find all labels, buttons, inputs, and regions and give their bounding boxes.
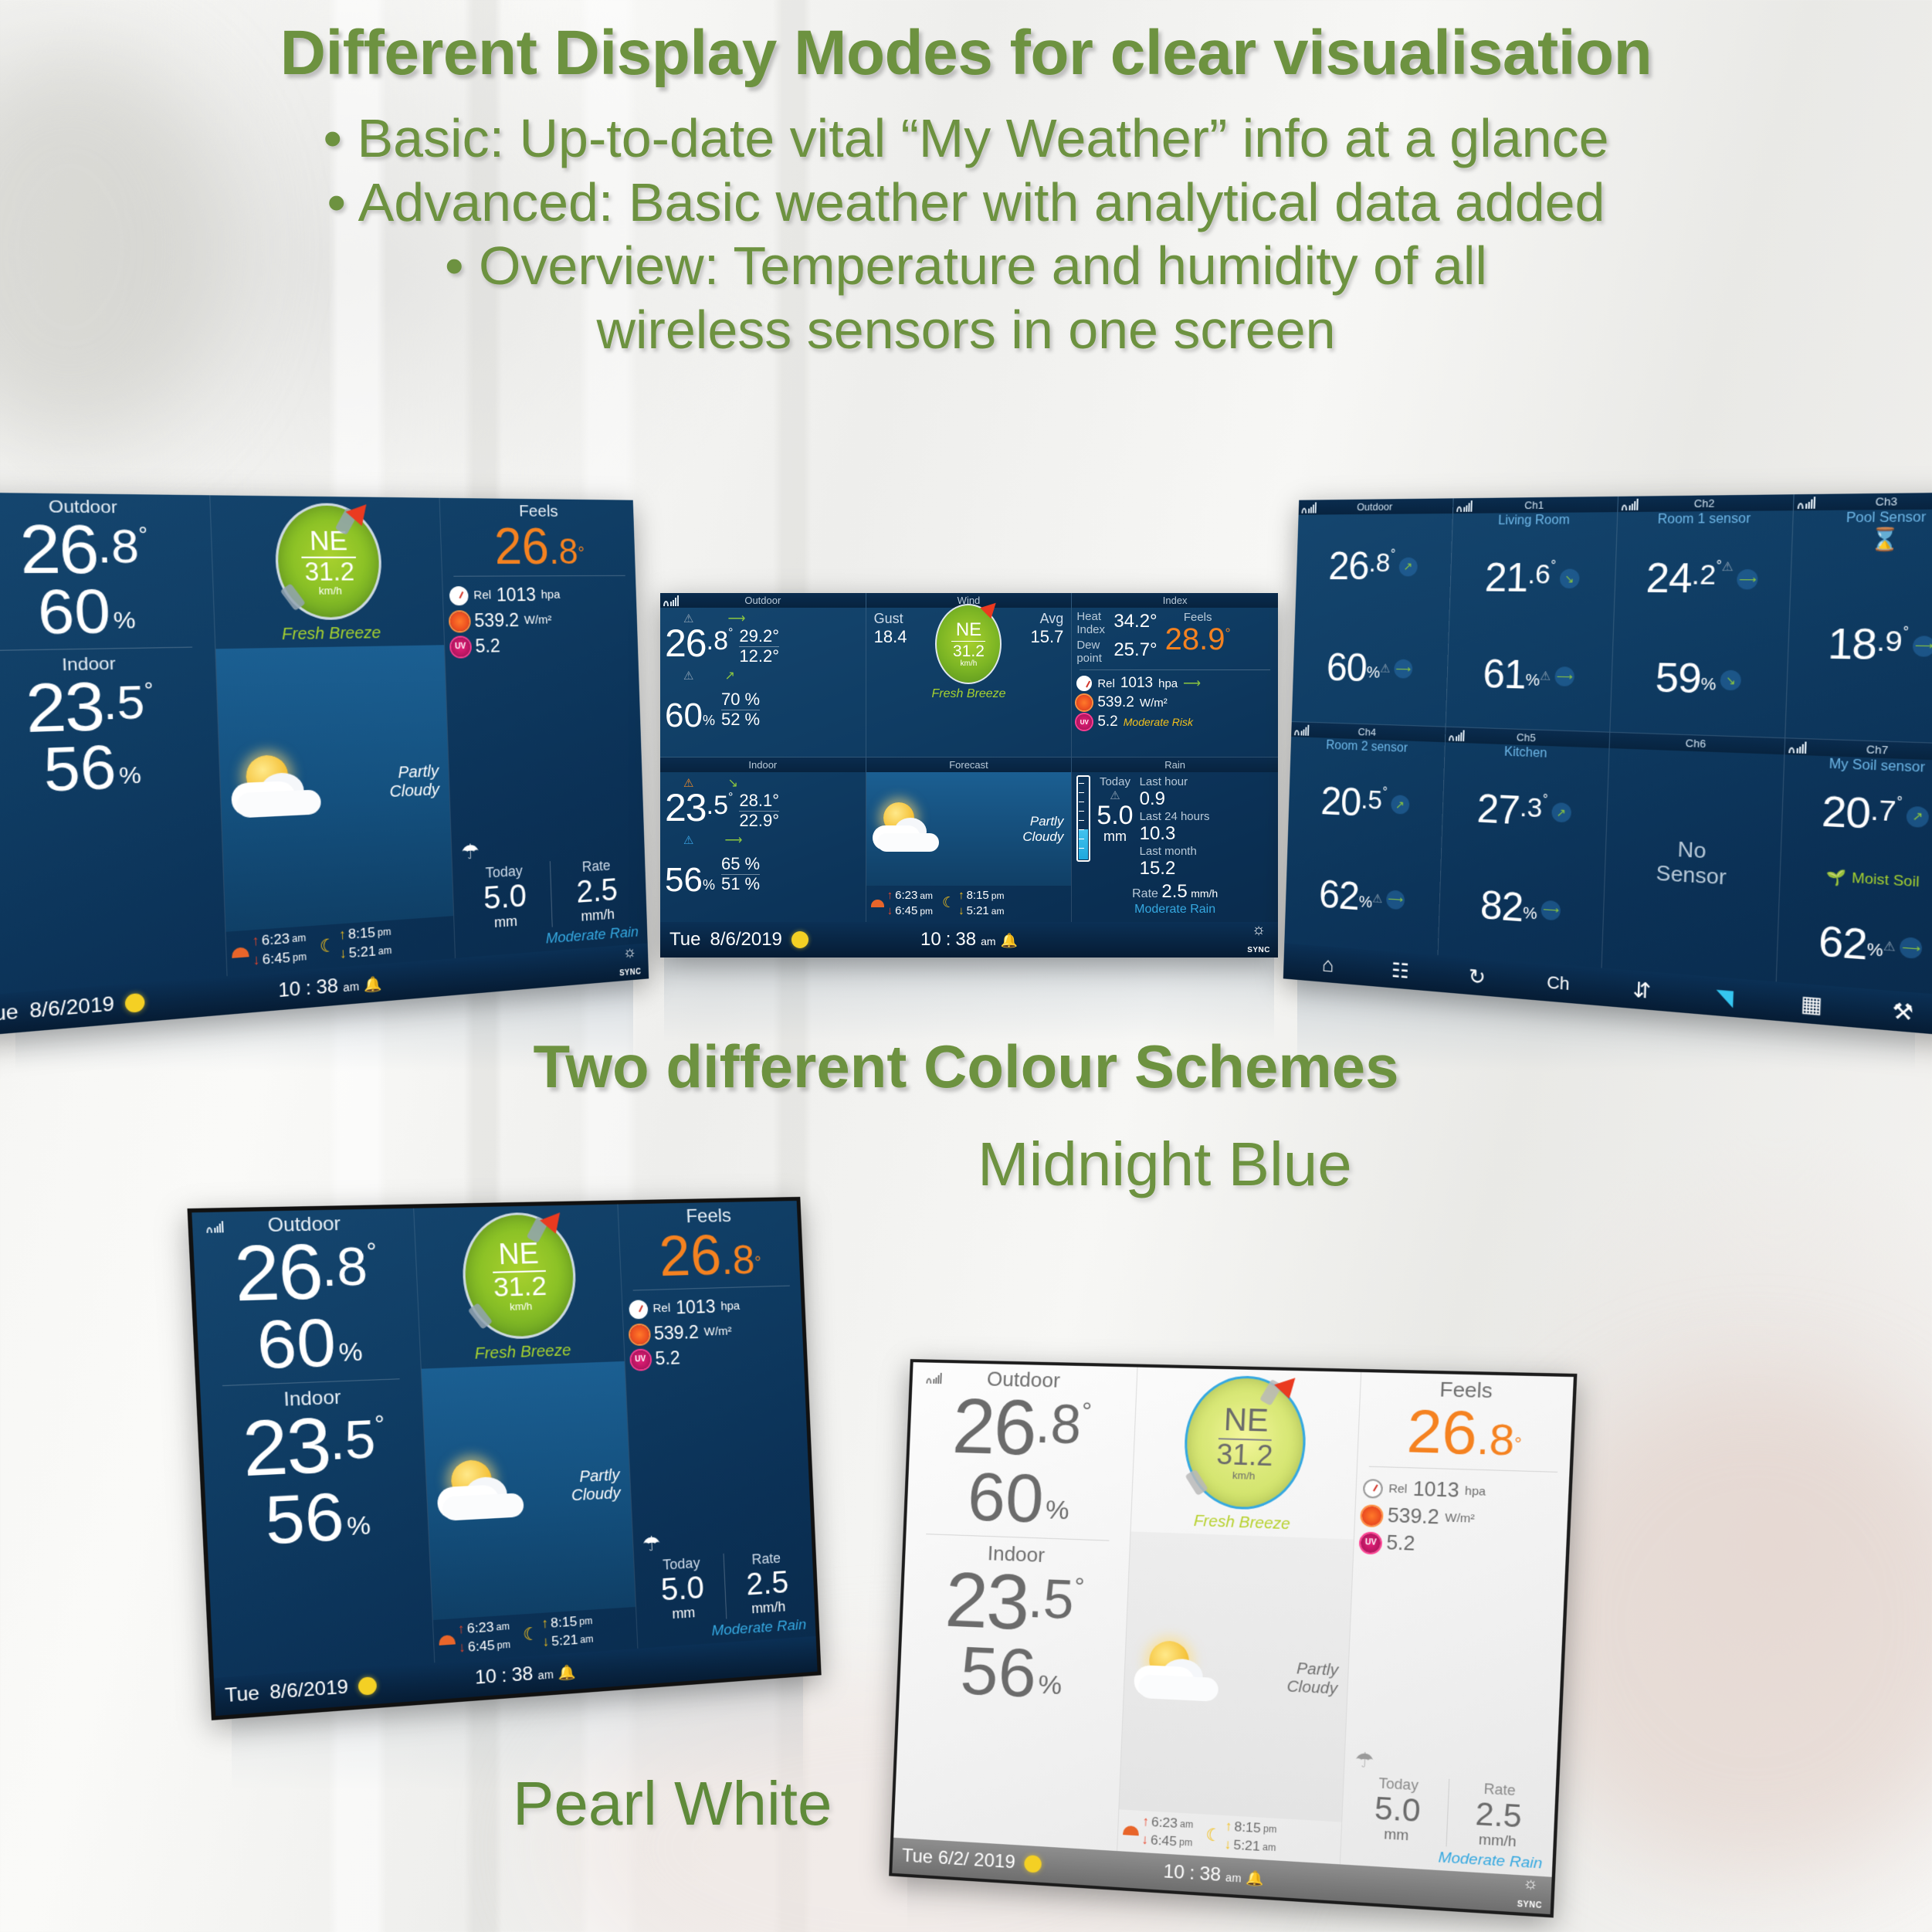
- cell-title: Ch2: [1694, 497, 1715, 510]
- partly-cloudy-icon: [1130, 1638, 1228, 1708]
- overview-cell-ch1[interactable]: Ch1 Living Room 21 .6 ° ↘ 61 % ⚠ ⟶: [1446, 497, 1618, 733]
- outdoor-hum-max: 70 %: [721, 690, 760, 710]
- indoor-hum-unit: %: [346, 1510, 371, 1542]
- reflection-advanced: [664, 958, 1274, 1042]
- overview-cell-ch4[interactable]: Ch4 Room 2 sensor 20 .5 ° ↗ 62 % ⚠ ⟶: [1284, 722, 1446, 955]
- wind-description: Fresh Breeze: [474, 1342, 571, 1364]
- cell-forecast[interactable]: Forecast PartlyCloudy: [866, 758, 1073, 922]
- alert-triangle-icon: ⚠: [683, 669, 693, 683]
- outdoor-humidity: 60 %: [196, 1306, 420, 1381]
- temp-int: 20: [1320, 782, 1361, 821]
- alarm-bell-icon: 🔔: [558, 1664, 576, 1682]
- humidity-row: 82 % ⟶: [1444, 884, 1598, 933]
- outdoor-hum-value: 60: [665, 699, 703, 733]
- forecast-description: PartlyCloudy: [388, 762, 442, 802]
- wind-direction: NE: [1223, 1404, 1269, 1437]
- indoor-temp-dec: .5: [328, 1408, 377, 1473]
- indoor-humidity: 56 % 65 % 51 %: [665, 854, 861, 897]
- barometer-icon: [1076, 676, 1092, 691]
- temperature-row: 21 .6 ° ↘: [1455, 559, 1610, 598]
- advanced-statusbar: Tue 8/6/2019 10 : 38 am 🔔 ☼ SYNC: [660, 922, 1278, 958]
- feels-unit: °: [1225, 626, 1231, 642]
- cell-title-outdoor: Outdoor: [744, 595, 781, 606]
- indoor-temp-int: 23: [665, 791, 707, 825]
- avg-value: 15.7: [1031, 627, 1064, 647]
- forecast-block: PartlyCloudy: [421, 1361, 635, 1620]
- outdoor-temp-unit: °: [366, 1239, 378, 1266]
- mb-col-temps: Outdoor 26 .8 ° 60 % Indoor 23 .5 °: [192, 1208, 433, 1678]
- solar-radiation-icon: [450, 612, 469, 631]
- uv-index-icon: UV: [631, 1350, 650, 1369]
- rain-rate-value: 2.5: [1448, 1796, 1551, 1835]
- dew-point-label: Dew point: [1076, 639, 1109, 665]
- page-title: Different Display Modes for clear visual…: [0, 17, 1932, 90]
- hum-unit: %: [1366, 664, 1380, 683]
- arrow-up-icon: ↑: [887, 889, 893, 902]
- temp-unit: °: [1543, 792, 1548, 807]
- humidity-row: 60 % ⚠ ⟶: [1297, 649, 1443, 689]
- nav-history-icon[interactable]: ☷: [1391, 958, 1409, 984]
- moonrise-time: 8:15: [1234, 1819, 1261, 1836]
- temp-unit: °: [1382, 785, 1388, 800]
- humidity-row: 62 % ⚠ ⟶: [1783, 919, 1932, 972]
- moonset-time: 5:21: [967, 904, 989, 917]
- basic-body: Outdoor 26 .8 ° 60 % Indoor 23 .5 °: [0, 492, 648, 996]
- moon-phase-icon: [1024, 1855, 1042, 1873]
- hum-unit: %: [1523, 904, 1537, 924]
- sunset-ampm: pm: [293, 951, 307, 963]
- sync-indicator[interactable]: ☼ SYNC: [1247, 922, 1270, 956]
- moon-icon: ☾: [523, 1623, 540, 1645]
- signal-icon: [1788, 741, 1809, 754]
- cell-title: Ch5: [1517, 731, 1536, 744]
- outdoor-humidity: 60 %: [0, 581, 215, 645]
- basic-col-temps: Outdoor 26 .8 ° 60 % Indoor 23 .5 °: [0, 492, 226, 996]
- clock-hour: 10: [278, 978, 301, 1002]
- temp-dec: .5: [1361, 785, 1383, 816]
- alert-triangle-icon: ⚠: [1883, 938, 1896, 954]
- temp-unit: °: [1896, 795, 1903, 811]
- rain-gauge-icon: [1076, 775, 1090, 862]
- sunset-time: 6:45: [467, 1638, 495, 1656]
- uv-value: 5.2: [475, 636, 500, 657]
- trend-arrow-icon: ↗: [1551, 802, 1571, 823]
- wind-description: Fresh Breeze: [282, 624, 381, 644]
- hum-value: 59: [1655, 659, 1702, 700]
- moonset-ampm: am: [378, 944, 392, 957]
- forecast-block: PartlyCloudy: [1119, 1531, 1354, 1822]
- solar-unit: W/m²: [1445, 1511, 1475, 1526]
- moonrise-ampm: pm: [378, 926, 391, 938]
- wind-dial: NE 31.2 km/h: [1182, 1374, 1309, 1511]
- sunset-time: 6:45: [895, 904, 917, 917]
- overview-cell-ch3[interactable]: Ch3 Pool Sensor ⌛ 18 .9 ° ⟶: [1785, 492, 1932, 744]
- nav-calendar-icon[interactable]: ▦: [1800, 990, 1823, 1019]
- signal-icon: [1301, 501, 1318, 513]
- indoor-temp-unit: °: [1074, 1572, 1086, 1602]
- wind-dial-block[interactable]: NE 31.2 km/h Fresh Breeze: [1130, 1368, 1361, 1537]
- alert-triangle-icon: ⚠: [1540, 669, 1551, 683]
- feels-value: 28.9: [1165, 622, 1225, 656]
- device-pearl-white[interactable]: Outdoor 26 .8 ° 60 % Indoor 23 .5 °: [889, 1359, 1577, 1918]
- arrow-up-icon: ↑: [252, 933, 259, 950]
- overview-cell-outdoor[interactable]: Outdoor 26 .8 ° ↗ 60 % ⚠ ⟶: [1292, 498, 1454, 727]
- temperature-row: 18 .9 ° ⟶: [1794, 624, 1932, 668]
- outdoor-temp-unit: °: [728, 626, 733, 640]
- alarm-bell-icon: 🔔: [1246, 1870, 1264, 1888]
- arrow-up-icon: ↑: [541, 1615, 549, 1632]
- pw-col-wind-forecast: NE 31.2 km/h Fresh Breeze PartlyCloudy: [1117, 1368, 1362, 1865]
- temperature-row: 20 .5 ° ↗: [1293, 781, 1439, 825]
- moon-icon: ☾: [1205, 1824, 1222, 1846]
- partly-cloudy-icon: [226, 751, 330, 825]
- moonset-ampm: am: [1263, 1842, 1276, 1853]
- device-advanced-mode[interactable]: Outdoor ⚠ ⟶ 26 .8 ° 29.2° 12.2°: [660, 593, 1278, 958]
- moon-phase-icon: [124, 993, 144, 1013]
- overview-cell-ch2[interactable]: Ch2 Room 1 sensor 24 .2 ° ⚠ ⟶ 59 % ↘: [1610, 494, 1794, 738]
- rain-rate-value: 2.5: [1161, 881, 1187, 902]
- feels-int: 26: [1405, 1398, 1479, 1468]
- cell-title-forecast: Forecast: [949, 759, 988, 771]
- pressure-label: Rel: [652, 1301, 670, 1315]
- rain-columns: Today 5.0 mm Rate 2.5 mm/h: [1347, 1774, 1551, 1852]
- alert-triangle-icon: ⚠: [1721, 559, 1734, 575]
- indoor-humidity: 56 %: [899, 1633, 1125, 1712]
- nav-refresh-icon[interactable]: ↻: [1468, 964, 1486, 990]
- statusbar-clock[interactable]: 10 : 38 am 🔔: [1163, 1861, 1265, 1890]
- trend-arrow-icon: ⟶: [1386, 890, 1405, 910]
- hum-value: 62: [1818, 921, 1868, 965]
- indoor-temp-max: 28.1°: [739, 791, 779, 812]
- cell-outdoor[interactable]: Outdoor ⚠ ⟶ 26 .8 ° 29.2° 12.2°: [660, 593, 866, 758]
- feels-int: 26: [658, 1224, 723, 1288]
- rain-rate-label: Rate: [1132, 887, 1158, 900]
- rain-block: ☂ Today 5.0 mm Rate 2.5 mm/h Moderate Ra…: [445, 654, 647, 958]
- wind-speed: 31.2: [304, 558, 355, 584]
- rain-rate-unit: mm/h: [1191, 887, 1218, 900]
- advanced-grid: Outdoor ⚠ ⟶ 26 .8 ° 29.2° 12.2°: [660, 593, 1278, 922]
- indoor-hum-unit: %: [119, 762, 142, 790]
- basic-col-wind-forecast: NE 31.2 km/h Fresh Breeze PartlyCloudy: [209, 495, 456, 976]
- trend-arrow-icon: ⟶: [727, 611, 745, 626]
- forecast-block: PartlyCloudy: [215, 645, 452, 931]
- trend-arrow-icon: ↘: [1720, 670, 1742, 691]
- hum-unit: %: [1358, 893, 1372, 913]
- sunrise-time: 6:23: [895, 889, 917, 902]
- arrow-up-icon: ↑: [1225, 1818, 1232, 1835]
- solar-unit: W/m²: [703, 1324, 731, 1338]
- clock-minute: 38: [955, 929, 976, 951]
- solar-radiation-icon: [629, 1324, 649, 1344]
- sync-indicator[interactable]: ☼ SYNC: [1517, 1875, 1543, 1912]
- signal-icon: [1294, 724, 1311, 736]
- indoor-temp-unit: °: [144, 676, 154, 703]
- last24-label: Last 24 hours: [1140, 810, 1210, 823]
- hum-unit: %: [1866, 941, 1883, 961]
- sun-moon-times: ↑6:23am ↓6:45pm ☾ ↑8:15pm ↓5:21am: [866, 886, 1072, 922]
- overview-cell-ch5[interactable]: Ch5 Kitchen 27 .3 ° ↗ 82 % ⟶: [1439, 727, 1611, 968]
- hum-value: 62: [1318, 876, 1359, 915]
- indoor-temp-unit: °: [374, 1411, 385, 1439]
- solar-value: 539.2: [653, 1322, 699, 1344]
- solar-value: 539.2: [1097, 694, 1134, 711]
- outdoor-hum-value: 60: [966, 1463, 1045, 1534]
- nav-channel-button[interactable]: Ch: [1547, 972, 1570, 995]
- indoor-temperature: 23 .5 °: [202, 1406, 425, 1488]
- statusbar-clock[interactable]: 10 : 38 am 🔔: [278, 971, 383, 1003]
- moonrise-ampm: pm: [579, 1615, 593, 1627]
- indoor-humidity: 56 %: [0, 734, 220, 805]
- no-sensor-message: NoSensor: [1602, 748, 1785, 981]
- moonrise-time: 8:15: [967, 889, 989, 902]
- moon-phase-icon: [358, 1676, 377, 1696]
- device-basic-mode[interactable]: Outdoor 26 .8 ° 60 % Indoor 23 .5 °: [0, 492, 649, 1036]
- alarm-bell-icon: 🔔: [1001, 933, 1018, 949]
- wind-dial-block[interactable]: NE 31.2 km/h Fresh Breeze: [414, 1205, 624, 1366]
- humidity-row: 61 % ⚠ ⟶: [1452, 655, 1607, 697]
- rain-today-value: 5.0: [1096, 802, 1133, 829]
- indoor-hum-min: 51 %: [721, 874, 760, 893]
- wind-speed-unit: km/h: [318, 584, 342, 596]
- hum-value: 82: [1480, 886, 1524, 927]
- pressure-value: 1013: [497, 585, 537, 606]
- outdoor-temperature: 26 .8 ° 29.2° 12.2°: [665, 626, 861, 666]
- arrow-down-icon: ↓: [1141, 1832, 1149, 1848]
- temp-int: 24: [1646, 559, 1693, 598]
- rain-history: Last hour 0.9 Last 24 hours 10.3 Last mo…: [1140, 775, 1210, 880]
- feels-unit: °: [754, 1252, 762, 1272]
- temp-dec: .9: [1876, 625, 1903, 659]
- sunset-ampm: pm: [920, 906, 933, 917]
- arrow-up-icon: ↑: [958, 889, 964, 902]
- rain-today-label: Today: [1096, 775, 1133, 788]
- solar-radiation-icon: [1361, 1506, 1382, 1526]
- bullet-overview-line2: wireless sensors in one screen: [0, 298, 1932, 362]
- mb-col-wind-forecast: NE 31.2 km/h Fresh Breeze PartlyCloudy: [413, 1205, 638, 1663]
- cell-title: Outdoor: [1357, 500, 1392, 513]
- sunrise-time: 6:23: [1151, 1815, 1178, 1832]
- divider: [453, 575, 625, 577]
- device-overview-mode[interactable]: Outdoor 26 .8 ° ↗ 60 % ⚠ ⟶: [1283, 492, 1932, 1036]
- wind-speed: 31.2: [1216, 1440, 1274, 1470]
- sunrise-icon: [1123, 1825, 1139, 1835]
- solar-radiation-icon: [1076, 695, 1092, 710]
- sync-indicator[interactable]: ☼ SYNC: [619, 944, 642, 979]
- statusbar-day: Tue: [225, 1683, 260, 1708]
- arrow-down-icon: ↓: [958, 904, 964, 917]
- humidity-row: 62 % ⚠ ⟶: [1290, 874, 1435, 921]
- sunrise-ampm: am: [496, 1621, 510, 1633]
- rain-today-unit: mm: [1096, 829, 1133, 845]
- arrow-up-icon: ↑: [1142, 1814, 1150, 1830]
- uv-value: 5.2: [1386, 1532, 1415, 1556]
- temperature-row: 20 .7 ° ↗: [1788, 790, 1932, 839]
- wind-speed: 31.2: [493, 1273, 547, 1301]
- moonset-ampm: am: [991, 906, 1005, 917]
- indoor-hum-unit: %: [1038, 1669, 1063, 1701]
- cell-rain[interactable]: Rain Today ⚠ 5.0: [1072, 758, 1278, 922]
- moonrise-ampm: pm: [991, 890, 1005, 901]
- soil-moisture-row: 🌱 Moist Soil: [1785, 866, 1932, 894]
- outdoor-temp-dec: .8: [1034, 1392, 1082, 1456]
- overview-cell-ch7[interactable]: Ch7 My Soil sensor 20 .7 ° ↗ 🌱 Moist Soi…: [1777, 738, 1932, 996]
- last24-value: 10.3: [1140, 823, 1210, 845]
- device-midnight-blue[interactable]: Outdoor 26 .8 ° 60 % Indoor 23 .5 °: [188, 1197, 822, 1720]
- sync-label: SYNC: [619, 968, 642, 978]
- indoor-temp-int: 23: [944, 1564, 1029, 1639]
- alert-triangle-icon: ⚠: [683, 833, 693, 847]
- sunset-ampm: pm: [1179, 1836, 1193, 1848]
- signal-icon: [1456, 500, 1475, 512]
- arrow-down-icon: ↓: [458, 1639, 466, 1656]
- pressure-label: Rel: [1388, 1482, 1408, 1496]
- wind-dial: NE 31.2 km/h: [935, 604, 1002, 684]
- indoor-temp-dec: .5: [102, 673, 145, 730]
- outdoor-hum-value: 60: [36, 581, 111, 643]
- heat-index-value: 34.2°: [1113, 611, 1157, 632]
- wifi-icon: ☼: [1247, 922, 1270, 937]
- outdoor-temp-int: 26: [665, 626, 707, 661]
- indoor-temperature: 23 .5 °: [0, 672, 218, 742]
- indoor-temp-int: 23: [241, 1410, 331, 1486]
- moonrise-time: 8:15: [348, 924, 376, 943]
- outdoor-temp-max: 29.2°: [739, 626, 779, 647]
- trend-arrow-icon: ⟶: [1554, 666, 1574, 686]
- outdoor-temperature: 26 .8 °: [193, 1234, 417, 1312]
- uv-value: 5.2: [655, 1347, 680, 1370]
- uv-index-icon: UV: [1076, 714, 1092, 730]
- overview-grid: Outdoor 26 .8 ° ↗ 60 % ⚠ ⟶: [1284, 492, 1932, 996]
- index-rows: Rel 1013 hpa 539.2 W/m² UV 5.2: [442, 579, 638, 658]
- plant-icon: 🌱: [1826, 868, 1847, 887]
- scheme-section-title: Two different Colour Schemes: [0, 1032, 1932, 1102]
- label-pearl-white: Pearl White: [513, 1768, 832, 1839]
- clock-minute: 38: [316, 974, 339, 999]
- cell-indoor[interactable]: Indoor ⚠ ↘ 23 .5 ° 28.1° 22.9° ⚠: [660, 758, 866, 922]
- sunrise-ampm: am: [1180, 1818, 1194, 1830]
- feels-dec: .8: [548, 530, 578, 571]
- rain-rate-value: 2.5: [725, 1564, 810, 1602]
- solar-unit: W/m²: [1140, 697, 1168, 710]
- wind-dial: NE 31.2 km/h: [460, 1212, 578, 1341]
- pressure-unit: hpa: [541, 588, 560, 602]
- pressure-label: Rel: [1097, 677, 1115, 690]
- wind-speed-unit: km/h: [961, 659, 978, 668]
- statusbar-clock[interactable]: 10 : 38 am 🔔: [920, 929, 1018, 951]
- wind-speed-unit: km/h: [1232, 1469, 1256, 1481]
- statusbar-date: 8/6/2019: [710, 929, 781, 951]
- bullet-overview-line1: • Overview: Temperature and humidity of …: [0, 234, 1932, 298]
- rain-columns: Today 5.0 mm Rate 2.5 mm/h: [457, 856, 642, 934]
- nav-home-icon[interactable]: ⌂: [1322, 952, 1334, 977]
- hum-value: 61: [1483, 656, 1527, 695]
- cell-title: Ch1: [1524, 499, 1544, 511]
- dial-segment: [280, 583, 306, 611]
- statusbar-date: 8/6/2019: [269, 1676, 349, 1705]
- barometer-icon: [449, 586, 468, 605]
- temp-int: 27: [1476, 789, 1520, 829]
- moonset-time: 5:21: [551, 1632, 578, 1650]
- sensor-name: Pool Sensor: [1793, 510, 1932, 527]
- signal-icon: [1798, 496, 1818, 509]
- clock-ampm: am: [343, 980, 359, 995]
- indoor-temperature: 23 .5 °: [902, 1562, 1128, 1643]
- headings-block: Different Display Modes for clear visual…: [0, 0, 1932, 361]
- cell-index[interactable]: Index Heat Index 34.2° Dew point 25.7°: [1072, 593, 1278, 758]
- wifi-icon: ☼: [1517, 1875, 1543, 1893]
- indoor-temp-int: 23: [25, 674, 104, 740]
- indoor-temp-dec: .5: [1027, 1567, 1075, 1631]
- trend-arrow-icon: ⟶: [1394, 659, 1413, 679]
- cell-wind[interactable]: Wind Gust 18.4 Avg 15.7 NE 31.2 km/h: [866, 593, 1073, 758]
- outdoor-temp-dec: .8: [96, 518, 140, 574]
- wind-dial: NE 31.2 km/h: [274, 503, 384, 621]
- indoor-hum-value: 56: [42, 737, 117, 802]
- clock-ampm: am: [537, 1668, 554, 1682]
- trend-arrow-icon: ↗: [1391, 795, 1410, 815]
- partly-cloudy-icon: [432, 1456, 532, 1527]
- temp-int: 21: [1484, 559, 1528, 598]
- sensor-name: Living Room: [1452, 513, 1617, 528]
- outdoor-hum-min: 52 %: [721, 710, 760, 729]
- indoor-hum-value: 56: [665, 863, 703, 897]
- clock-hour: 10: [920, 929, 941, 951]
- arrow-down-icon: ↓: [253, 952, 260, 969]
- trend-arrow-icon: ⟶: [724, 832, 742, 848]
- background-blob-right: [1515, 1376, 1932, 1870]
- temperature-row: 26 .8 ° ↗: [1300, 547, 1446, 585]
- statusbar-clock[interactable]: 10 : 38 am 🔔: [474, 1660, 576, 1690]
- hum-unit: %: [1525, 671, 1540, 690]
- indoor-hum-value: 56: [959, 1636, 1038, 1708]
- gust-value: 18.4: [874, 627, 907, 647]
- wind-dial-block[interactable]: NE 31.2 km/h Fresh Breeze: [210, 495, 443, 646]
- statusbar-day-date: Tue 6/2/ 2019: [901, 1845, 1015, 1873]
- avg-label: Avg: [1040, 611, 1064, 626]
- cell-title: Ch7: [1866, 743, 1889, 757]
- nav-minmax-icon[interactable]: ⇵: [1632, 977, 1652, 1004]
- wind-speed-unit: km/h: [510, 1300, 533, 1312]
- trend-arrow-icon: ⟶: [1737, 569, 1758, 589]
- outdoor-temp-unit: °: [1081, 1397, 1093, 1426]
- last-month-label: Last month: [1140, 845, 1197, 858]
- mb-col-feels-index-rain: Feels 26.8° Rel 1013 hpa 539.2 W/m² UV 5…: [618, 1201, 816, 1649]
- statusbar-day: Tue: [0, 1000, 19, 1028]
- outdoor-humidity: 60 % 70 % 52 %: [665, 690, 861, 733]
- sunrise-icon: [232, 947, 249, 958]
- sunset-time: 6:45: [262, 950, 290, 968]
- forecast-description: PartlyCloudy: [1022, 814, 1066, 844]
- clock-colon: :: [501, 1665, 507, 1687]
- indoor-hum-max: 65 %: [721, 854, 760, 875]
- moonset-time: 5:21: [348, 944, 376, 962]
- moonset-time: 5:21: [1233, 1837, 1260, 1855]
- feels-int: 26: [493, 517, 550, 575]
- divider: [0, 646, 192, 651]
- cell-title: Ch3: [1875, 495, 1897, 508]
- outdoor-temp-dec: .8: [320, 1235, 368, 1299]
- overview-cell-ch6[interactable]: Ch6 NoSensor: [1602, 733, 1786, 982]
- nav-graph-icon[interactable]: ◥: [1716, 983, 1734, 1010]
- moonrise-ampm: pm: [1263, 1823, 1277, 1835]
- trend-arrow-icon: ⟶: [1541, 900, 1561, 920]
- temp-int: 26: [1328, 548, 1369, 585]
- last-hour-label: Last hour: [1140, 775, 1188, 788]
- nav-settings-icon[interactable]: ⚒: [1892, 998, 1914, 1026]
- temp-unit: °: [1903, 625, 1909, 640]
- bullet-basic: • Basic: Up-to-date vital “My Weather” i…: [0, 107, 1932, 171]
- trend-arrow-icon: ↗: [724, 668, 734, 683]
